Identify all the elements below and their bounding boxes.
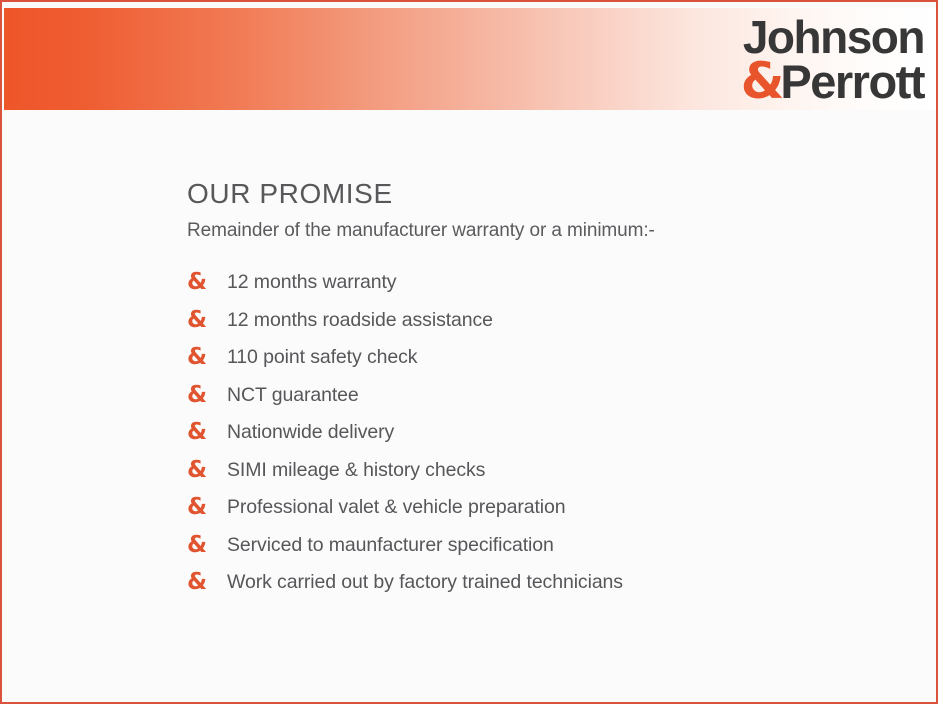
promise-list: & 12 months warranty & 12 months roadsid… [187, 264, 887, 602]
ampersand-bullet-icon: & [187, 571, 227, 594]
list-item-label: Serviced to maunfacturer specification [227, 534, 554, 557]
list-item-label: Nationwide delivery [227, 421, 394, 444]
list-item-label: Work carried out by factory trained tech… [227, 571, 623, 594]
list-item: & 12 months roadside assistance [187, 302, 887, 340]
list-item: & Nationwide delivery [187, 414, 887, 452]
list-item-label: 110 point safety check [227, 346, 417, 369]
promise-page: Johnson &Perrott OUR PROMISE Remainder o… [0, 0, 938, 704]
ampersand-bullet-icon: & [187, 384, 227, 407]
list-item: & 12 months warranty [187, 264, 887, 302]
johnson-perrott-logo: Johnson &Perrott [694, 10, 924, 110]
ampersand-bullet-icon: & [187, 271, 227, 294]
ampersand-bullet-icon: & [187, 421, 227, 444]
list-item: & Work carried out by factory trained te… [187, 564, 887, 602]
page-subtitle: Remainder of the manufacturer warranty o… [187, 220, 887, 242]
list-item-label: SIMI mileage & history checks [227, 459, 485, 482]
logo-word-perrott: Perrott [780, 60, 924, 103]
list-item-label: Professional valet & vehicle preparation [227, 496, 566, 519]
list-item: & Professional valet & vehicle preparati… [187, 489, 887, 527]
list-item-label: 12 months roadside assistance [227, 309, 493, 332]
ampersand-bullet-icon: & [187, 346, 227, 369]
ampersand-icon: & [741, 58, 783, 104]
ampersand-bullet-icon: & [187, 496, 227, 519]
ampersand-bullet-icon: & [187, 534, 227, 557]
list-item: & SIMI mileage & history checks [187, 452, 887, 490]
list-item: & 110 point safety check [187, 339, 887, 377]
list-item-label: 12 months warranty [227, 271, 396, 294]
list-item: & Serviced to maunfacturer specification [187, 527, 887, 565]
ampersand-bullet-icon: & [187, 309, 227, 332]
logo-line-perrott: &Perrott [741, 58, 924, 104]
page-title: OUR PROMISE [187, 178, 887, 210]
promise-content: OUR PROMISE Remainder of the manufacture… [187, 178, 887, 602]
list-item-label: NCT guarantee [227, 384, 359, 407]
header-banner: Johnson &Perrott [4, 8, 938, 110]
ampersand-bullet-icon: & [187, 459, 227, 482]
list-item: & NCT guarantee [187, 377, 887, 415]
